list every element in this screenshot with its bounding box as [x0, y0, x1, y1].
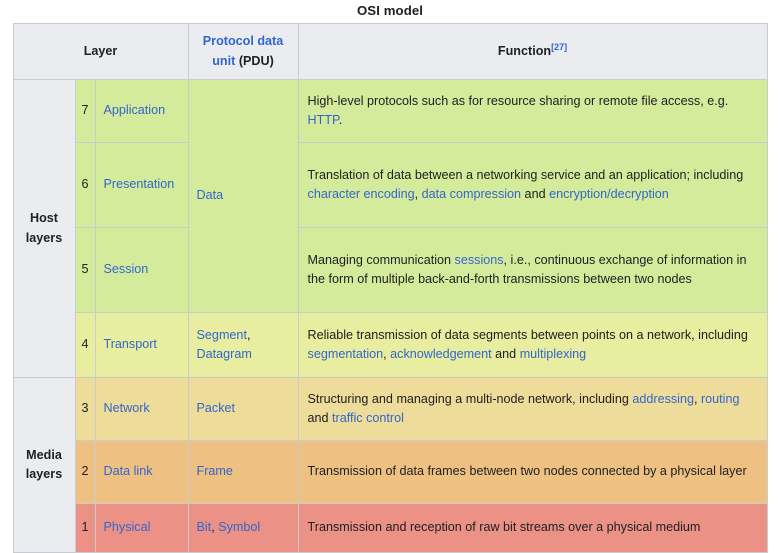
layer-name-link[interactable]: Physical [104, 520, 151, 534]
function-text: . [339, 113, 343, 127]
header-function: Function[27] [298, 24, 767, 80]
layer-number: 3 [75, 378, 95, 441]
table-row: Host layers 7 Application Data High-leve… [13, 80, 767, 143]
layer-name: Physical [95, 504, 188, 553]
table-row: Media layers 3 Network Packet Structurin… [13, 378, 767, 441]
function-link[interactable]: routing [701, 392, 740, 406]
pdu-separator: , [247, 328, 251, 342]
layer-name-link[interactable]: Session [104, 262, 149, 276]
layer-number: 4 [75, 313, 95, 378]
function-text: Structuring and managing a multi-node ne… [308, 392, 633, 406]
pdu-segment-link[interactable]: Segment [197, 328, 247, 342]
function-link[interactable]: encryption/decryption [549, 187, 669, 201]
layer-name-link[interactable]: Transport [104, 337, 157, 351]
osi-model-table: Layer Protocol data unit (PDU) Function[… [13, 23, 768, 553]
function-text: Reliable transmission of data segments b… [308, 328, 748, 342]
layer-name-link[interactable]: Application [104, 103, 166, 117]
layer-name: Session [95, 228, 188, 313]
pdu-frame-link[interactable]: Frame [197, 464, 233, 478]
function-text: Translation of data between a networking… [308, 168, 744, 182]
header-function-label: Function [498, 44, 551, 58]
function-text: , [694, 392, 701, 406]
header-pdu: Protocol data unit (PDU) [188, 24, 298, 80]
header-function-reference[interactable]: [27] [551, 42, 567, 52]
layer-number: 2 [75, 441, 95, 504]
table-row: 2 Data link Frame Transmission of data f… [13, 441, 767, 504]
group-host-layers: Host layers [13, 80, 75, 378]
group-media-layers: Media layers [13, 378, 75, 553]
function-text: Transmission and reception of raw bit st… [308, 520, 701, 534]
function-cell: Reliable transmission of data segments b… [298, 313, 767, 378]
function-text: Transmission of data frames between two … [308, 464, 747, 478]
function-text: , [415, 187, 422, 201]
layer-name-link[interactable]: Data link [104, 464, 153, 478]
table-row: 4 Transport Segment, Datagram Reliable t… [13, 313, 767, 378]
table-header-row: Layer Protocol data unit (PDU) Function[… [13, 24, 767, 80]
pdu-packet-link[interactable]: Packet [197, 401, 236, 415]
function-link[interactable]: character encoding [308, 187, 415, 201]
table-row: 5 Session Managing communication session… [13, 228, 767, 313]
table-row: 1 Physical Bit, Symbol Transmission and … [13, 504, 767, 553]
layer-name-link[interactable]: Presentation [104, 177, 175, 191]
function-cell: Managing communication sessions, i.e., c… [298, 228, 767, 313]
pdu-frame: Frame [188, 441, 298, 504]
function-text: and [492, 347, 520, 361]
function-text: High-level protocols such as for resourc… [308, 94, 729, 108]
pdu-separator: , [211, 520, 218, 534]
layer-name: Presentation [95, 143, 188, 228]
function-cell: Transmission of data frames between two … [298, 441, 767, 504]
layer-name: Network [95, 378, 188, 441]
function-link[interactable]: acknowledgement [390, 347, 492, 361]
function-text: and [308, 411, 333, 425]
function-cell: High-level protocols such as for resourc… [298, 80, 767, 143]
layer-name: Data link [95, 441, 188, 504]
layer-name-link[interactable]: Network [104, 401, 150, 415]
function-link[interactable]: sessions [455, 253, 504, 267]
figure-caption: OSI model [0, 0, 780, 23]
header-layer: Layer [13, 24, 188, 80]
pdu-bit-symbol: Bit, Symbol [188, 504, 298, 553]
function-cell: Transmission and reception of raw bit st… [298, 504, 767, 553]
pdu-bit-link[interactable]: Bit [197, 520, 212, 534]
function-link[interactable]: HTTP [308, 113, 339, 127]
pdu-packet: Packet [188, 378, 298, 441]
osi-model-figure: OSI model Layer Protocol data unit (PDU)… [0, 0, 780, 481]
layer-name: Application [95, 80, 188, 143]
function-link[interactable]: data compression [422, 187, 521, 201]
layer-number: 6 [75, 143, 95, 228]
pdu-datagram-link[interactable]: Datagram [197, 347, 252, 361]
layer-number: 7 [75, 80, 95, 143]
function-text: Managing communication [308, 253, 455, 267]
function-link[interactable]: segmentation [308, 347, 384, 361]
function-link[interactable]: traffic control [332, 411, 404, 425]
function-cell: Structuring and managing a multi-node ne… [298, 378, 767, 441]
header-pdu-abbr: (PDU) [235, 54, 273, 68]
layer-number: 1 [75, 504, 95, 553]
pdu-data-link[interactable]: Data [197, 188, 224, 202]
function-text: and [521, 187, 549, 201]
function-link[interactable]: addressing [632, 392, 694, 406]
pdu-data: Data [188, 80, 298, 313]
layer-name: Transport [95, 313, 188, 378]
layer-number: 5 [75, 228, 95, 313]
function-cell: Translation of data between a networking… [298, 143, 767, 228]
pdu-symbol-link[interactable]: Symbol [218, 520, 260, 534]
pdu-segment-datagram: Segment, Datagram [188, 313, 298, 378]
table-row: 6 Presentation Translation of data betwe… [13, 143, 767, 228]
function-link[interactable]: multiplexing [520, 347, 587, 361]
